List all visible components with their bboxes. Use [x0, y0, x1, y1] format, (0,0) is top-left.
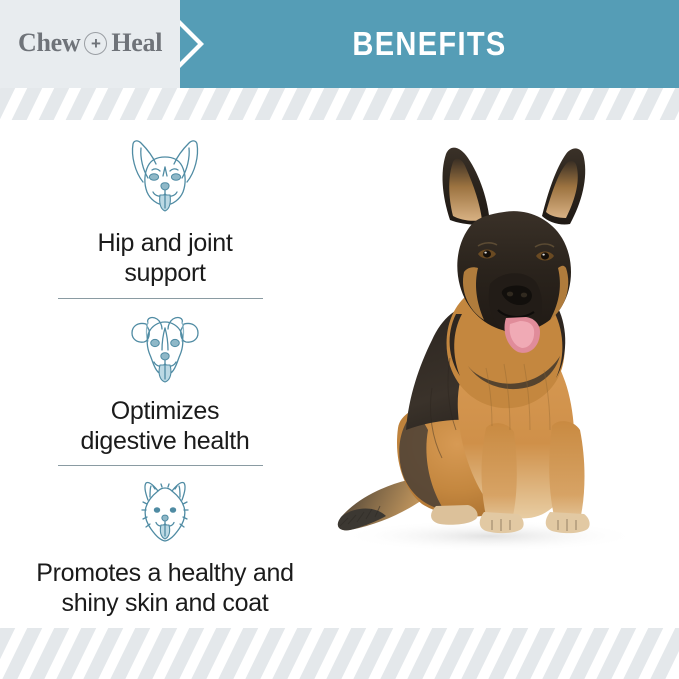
benefit-label: Promotes a healthy and shiny skin and co… [36, 558, 293, 618]
main-content: Hip and joint support [0, 120, 679, 628]
benefit-item: Promotes a healthy and shiny skin and co… [0, 478, 330, 618]
benefits-list: Hip and joint support [0, 120, 330, 628]
plus-circle-icon: + [84, 32, 107, 55]
benefit-item: Optimizes digestive health [0, 310, 330, 456]
stripe-band-bottom [0, 628, 679, 679]
divider [58, 465, 263, 466]
logo-word-left: Chew [18, 28, 80, 58]
logo-word-right: Heal [111, 28, 162, 58]
samoyed-dog-face-icon [129, 478, 201, 548]
benefit-label: Optimizes digestive health [81, 396, 250, 456]
divider [58, 298, 263, 299]
corgi-dog-face-icon [121, 136, 209, 218]
benefit-item: Hip and joint support [0, 136, 330, 288]
header-bar: Chew + Heal BENEFITS [0, 0, 679, 88]
chevron-right-inner-icon [180, 26, 198, 62]
german-shepherd-photo [290, 128, 670, 558]
benefits-infographic: Chew + Heal BENEFITS [0, 0, 679, 679]
benefit-label: Hip and joint support [97, 228, 232, 288]
brand-logo: Chew + Heal [18, 28, 162, 58]
page-title: BENEFITS [210, 0, 649, 88]
terrier-dog-face-icon [124, 310, 206, 386]
stripe-band-top [0, 88, 679, 120]
